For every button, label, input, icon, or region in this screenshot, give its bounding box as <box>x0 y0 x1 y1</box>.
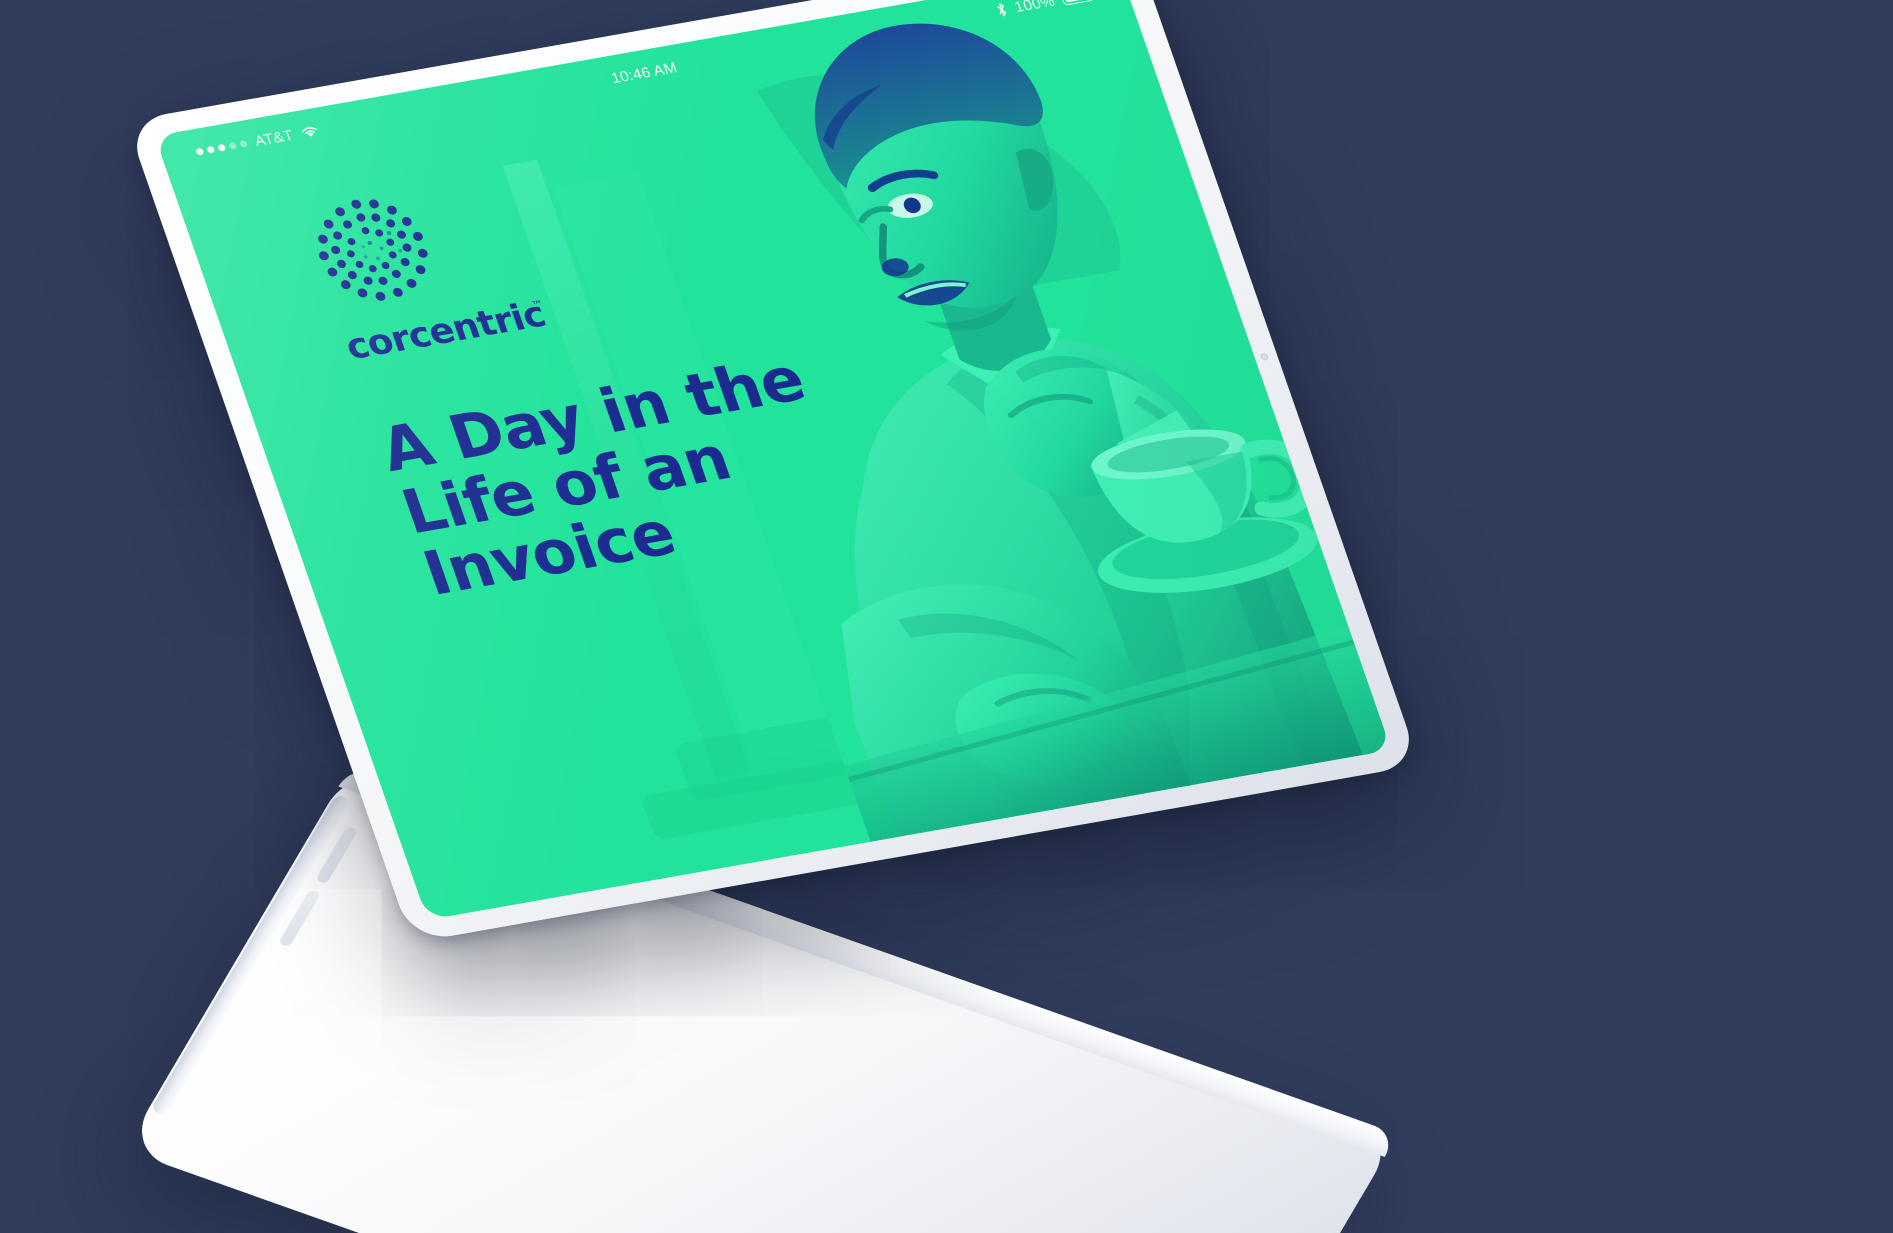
status-bar-clock: 10:46 AM <box>609 59 679 86</box>
brand-logo[interactable]: corcentric ™ <box>298 170 565 371</box>
battery-fill <box>1063 0 1091 3</box>
front-tablet: corcentric ™ A Day in the Life of an Inv… <box>126 0 1420 943</box>
status-bar-right: 100% <box>993 0 1095 19</box>
battery-icon <box>1060 0 1095 6</box>
front-camera-icon <box>1260 353 1269 361</box>
wifi-icon <box>299 124 322 140</box>
status-bar-left: AT&T <box>193 122 321 160</box>
battery-percent-label: 100% <box>1012 0 1057 15</box>
signal-strength-icon <box>195 140 248 156</box>
page-title: A Day in the Life of an Invoice <box>372 345 866 607</box>
bluetooth-icon <box>993 1 1009 18</box>
carrier-label: AT&T <box>252 127 296 150</box>
scene: corcentric ™ A Day in the Life of an Inv… <box>0 0 1893 1233</box>
corcentric-logo-mark-icon <box>298 187 447 312</box>
back-tablet-side-rail <box>150 794 352 1116</box>
front-tablet-frame: corcentric ™ A Day in the Life of an Inv… <box>126 0 1420 943</box>
